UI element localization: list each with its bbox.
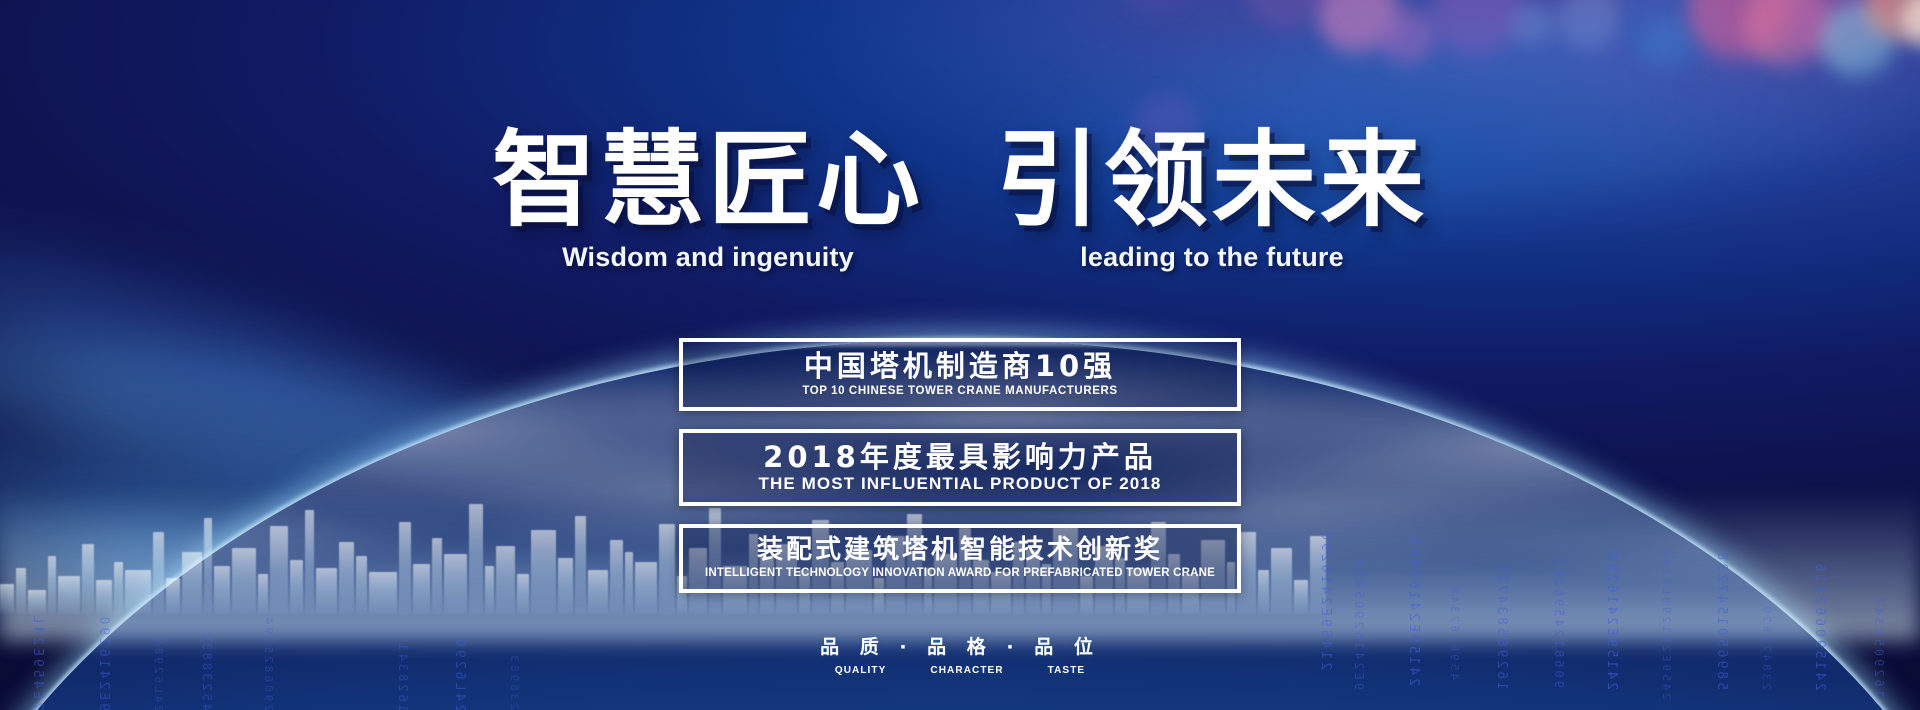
banner-content: 智慧匠心 Wisdom and ingenuity 引领未来 leading t… [0, 0, 1920, 710]
headline-left-group: 智慧匠心 Wisdom and ingenuity [492, 124, 924, 273]
tagline-cn: 品 质 · 品 格 · 品 位 [820, 632, 1100, 659]
award-3-en: INTELLIGENT TECHNOLOGY INNOVATION AWARD … [689, 567, 1231, 580]
tagline-en-word: CHARACTER [930, 665, 1003, 676]
award-badge-1: 中国塔机制造商10强 TOP 10 CHINESE TOWER CRANE MA… [679, 338, 1241, 411]
headline-row: 智慧匠心 Wisdom and ingenuity 引领未来 leading t… [0, 124, 1920, 273]
headline-left-en: Wisdom and ingenuity [562, 242, 854, 273]
promotional-banner: 21459E24162909E2416290583424159E24162905… [0, 0, 1920, 710]
headline-right-en: leading to the future [1080, 242, 1344, 273]
award-badge-3: 装配式建筑塔机智能技术创新奖 INTELLIGENT TECHNOLOGY IN… [679, 524, 1241, 593]
award-badge-2: 2018年度最具影响力产品 THE MOST INFLUENTIAL PRODU… [679, 429, 1241, 506]
award-2-en: THE MOST INFLUENTIAL PRODUCT OF 2018 [689, 475, 1231, 494]
tagline-en-word: QUALITY [835, 665, 887, 676]
headline-left-cn: 智慧匠心 [492, 124, 924, 236]
award-3-cn: 装配式建筑塔机智能技术创新奖 [689, 536, 1231, 565]
headline-right-group: 引领未来 leading to the future [996, 124, 1428, 273]
award-2-cn: 2018年度最具影响力产品 [689, 441, 1231, 473]
tagline-en-row: QUALITYCHARACTERTASTE [820, 665, 1100, 676]
award-list: 中国塔机制造商10强 TOP 10 CHINESE TOWER CRANE MA… [679, 338, 1241, 593]
bottom-tagline: 品 质 · 品 格 · 品 位 QUALITYCHARACTERTASTE [820, 632, 1100, 676]
headline-right-cn: 引领未来 [996, 124, 1428, 236]
tagline-en-word: TASTE [1048, 665, 1086, 676]
award-1-cn: 中国塔机制造商10强 [689, 350, 1231, 382]
award-1-en: TOP 10 CHINESE TOWER CRANE MANUFACTURERS [689, 385, 1231, 398]
